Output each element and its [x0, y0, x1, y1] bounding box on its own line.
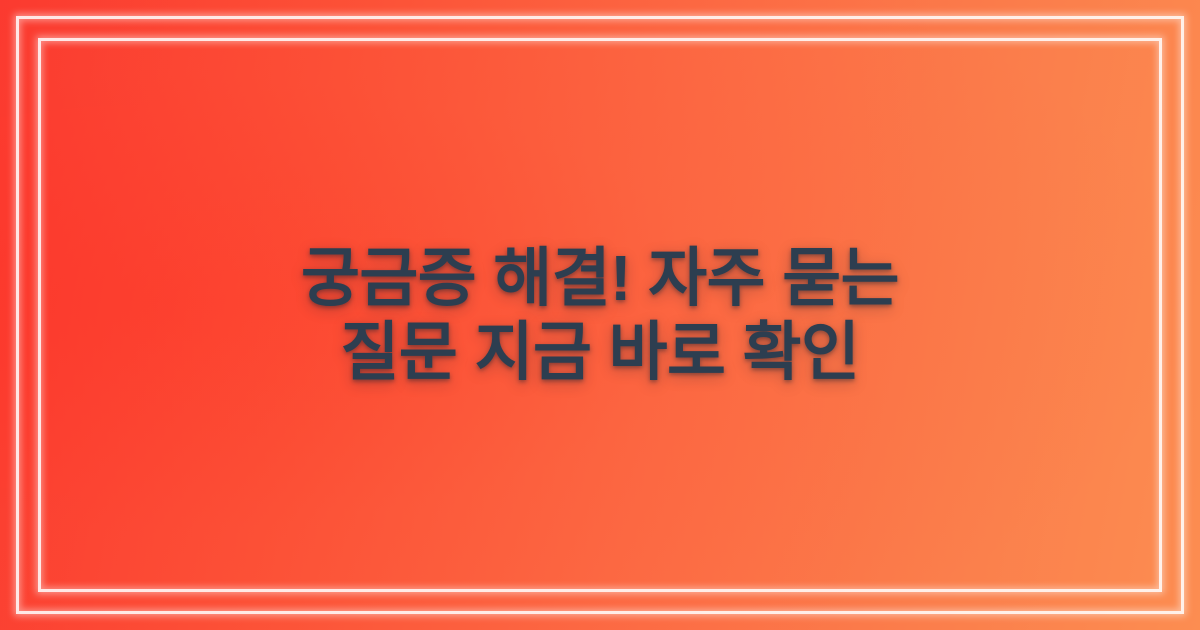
thumbnail-canvas: 궁금증 해결! 자주 묻는 질문 지금 바로 확인	[0, 0, 1200, 630]
headline-text: 궁금증 해결! 자주 묻는 질문 지금 바로 확인	[290, 241, 910, 389]
headline-container: 궁금증 해결! 자주 묻는 질문 지금 바로 확인	[0, 0, 1200, 630]
